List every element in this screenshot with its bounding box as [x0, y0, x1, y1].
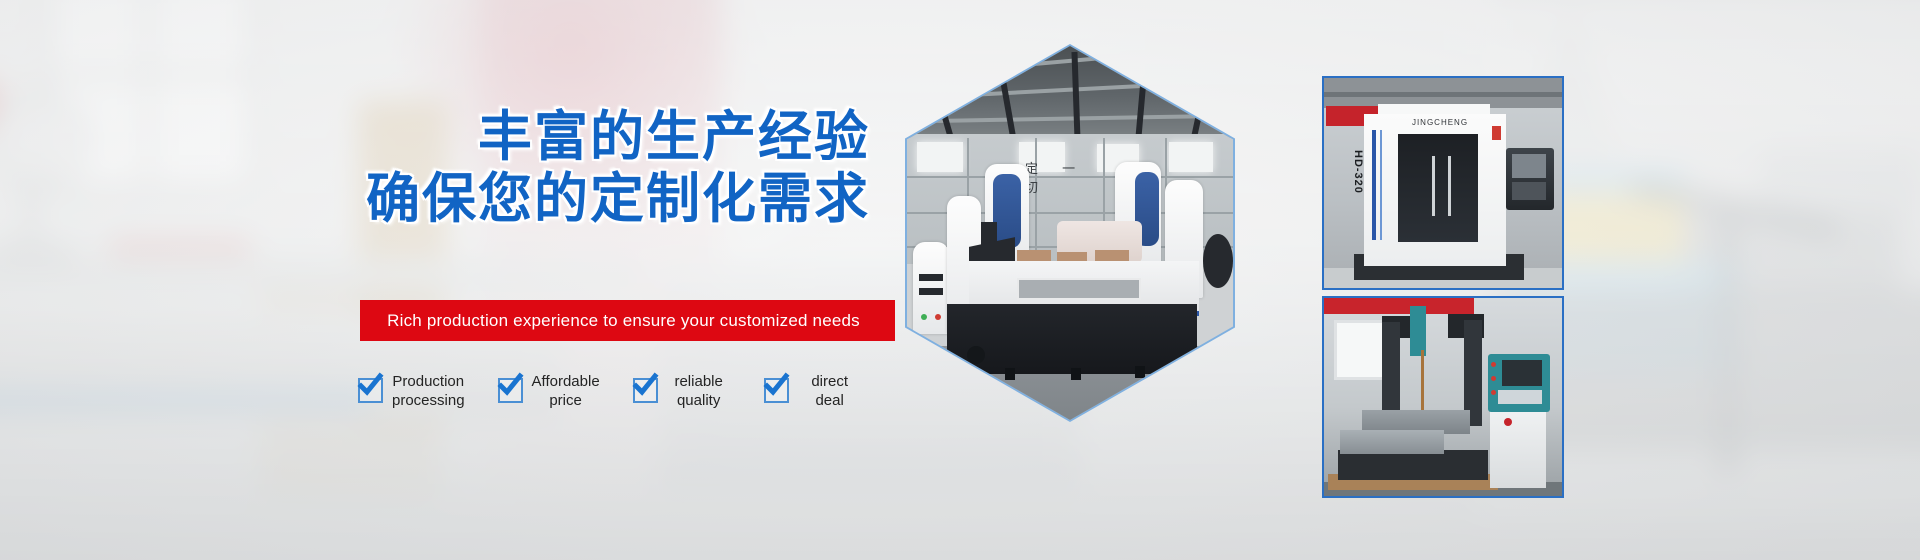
- subtitle-text: Rich production experience to ensure you…: [360, 300, 895, 341]
- checkbox-checked-icon[interactable]: [764, 378, 789, 403]
- headline-line-2: 确保您的定制化需求: [150, 167, 870, 229]
- headline-line-1: 丰富的生产经验: [478, 104, 870, 168]
- banner-copy: 丰富的生产经验 确保您的定制化需求 Rich production experi…: [0, 0, 920, 560]
- feature-item-affordable-price[interactable]: Affordable price: [498, 372, 600, 410]
- machine-brand-label: JINGCHENG: [1410, 118, 1470, 127]
- checkbox-checked-icon[interactable]: [633, 378, 658, 403]
- feature-label: direct deal: [798, 372, 862, 410]
- subtitle-red-bar: Rich production experience to ensure you…: [360, 300, 895, 341]
- thumbnail-horizontal-machining-center[interactable]: HD-320 JINGCHENG: [1322, 76, 1564, 290]
- thumbnail-gantry-edm-machine[interactable]: [1322, 296, 1564, 498]
- hexagon-border: 定 一 切: [905, 44, 1235, 422]
- cnc-double-column-machine-photo: 定 一 切: [907, 46, 1233, 420]
- feature-item-production-processing[interactable]: Production processing: [358, 372, 465, 410]
- factory-sign-text: 定 一 切: [1025, 158, 1115, 176]
- machine-model-label: HD-320: [1350, 150, 1364, 196]
- feature-item-reliable-quality[interactable]: reliable quality: [633, 372, 731, 410]
- hexagon-image-frame[interactable]: 定 一 切: [905, 44, 1235, 422]
- checkbox-checked-icon[interactable]: [358, 378, 383, 403]
- feature-label: Production processing: [392, 372, 465, 410]
- feature-list: Production processing Affordable price r…: [358, 372, 862, 410]
- promo-banner: 丰富的生产经验 确保您的定制化需求 Rich production experi…: [0, 0, 1920, 560]
- page-title: 丰富的生产经验 确保您的定制化需求: [150, 105, 870, 229]
- thumbnail-gallery: HD-320 JINGCHENG: [1322, 76, 1562, 498]
- checkbox-checked-icon[interactable]: [498, 378, 523, 403]
- feature-label: reliable quality: [667, 372, 731, 410]
- feature-item-direct-deal[interactable]: direct deal: [764, 372, 862, 410]
- feature-label: Affordable price: [532, 372, 600, 410]
